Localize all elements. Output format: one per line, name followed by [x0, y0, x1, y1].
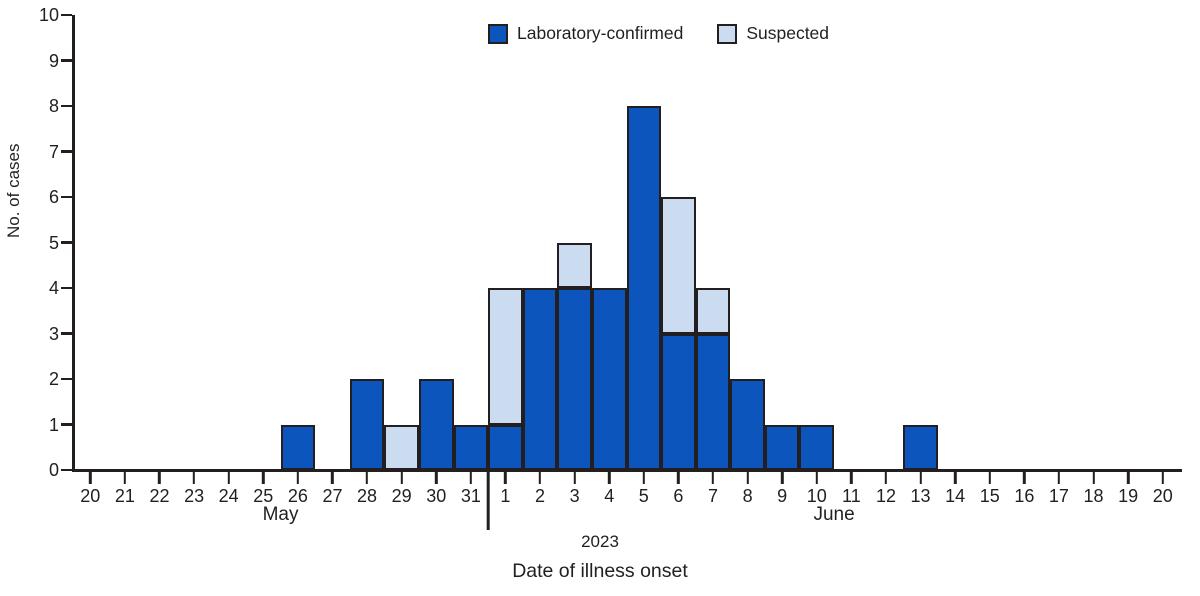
bar-segment-laboratory-confirmed [903, 425, 938, 471]
y-axis-tick-label: 5 [15, 234, 59, 252]
y-axis-tick [61, 196, 72, 198]
bar-segment-suspected [488, 288, 523, 425]
y-axis-tick [61, 287, 72, 289]
bar-stack [488, 288, 523, 470]
x-axis-tick [608, 472, 610, 484]
x-axis-tick [539, 472, 541, 484]
x-axis-tick [677, 472, 679, 484]
bar-stack [592, 288, 627, 470]
bar-segment-laboratory-confirmed [488, 425, 523, 471]
legend-swatch-suspected [717, 24, 737, 44]
legend-label-suspected: Suspected [746, 25, 829, 43]
y-axis-tick [61, 469, 72, 471]
x-axis-tick [158, 472, 160, 484]
x-axis-tick [850, 472, 852, 484]
bar-segment-laboratory-confirmed [523, 288, 558, 470]
y-axis-tick-labels: 012345678910 [15, 15, 59, 470]
x-axis-tick [919, 472, 921, 484]
bar-stack [765, 425, 800, 471]
y-axis-tick-label: 8 [15, 97, 59, 115]
y-axis-tick [61, 423, 72, 425]
epi-curve-figure: Laboratory-confirmed Suspected No. of ca… [0, 0, 1200, 596]
x-axis-tick [504, 472, 506, 484]
bar-segment-suspected [557, 243, 592, 289]
bar-stack [281, 425, 316, 471]
x-axis-tick [124, 472, 126, 484]
x-axis-tick [1162, 472, 1164, 484]
bar-segment-laboratory-confirmed [281, 425, 316, 471]
x-axis-tick [1092, 472, 1094, 484]
x-axis-tick [954, 472, 956, 484]
x-axis-tick [435, 472, 437, 484]
bar-series-container [73, 15, 1180, 470]
y-axis-tick-label: 6 [15, 188, 59, 206]
y-axis-tick [61, 105, 72, 107]
bar-segment-laboratory-confirmed [696, 334, 731, 471]
y-axis-tick-label: 1 [15, 416, 59, 434]
year-label: 2023 [0, 533, 1200, 550]
chart-legend: Laboratory-confirmed Suspected [488, 24, 829, 44]
x-axis-tick [366, 472, 368, 484]
x-axis-tick [193, 472, 195, 484]
x-axis-tick [227, 472, 229, 484]
x-axis-tick [816, 472, 818, 484]
y-axis-tick [61, 241, 72, 243]
x-axis-tick [1127, 472, 1129, 484]
legend-entry-laboratory-confirmed: Laboratory-confirmed [488, 24, 683, 44]
bar-stack [799, 425, 834, 471]
y-axis-tick-label: 7 [15, 143, 59, 161]
x-axis-tick [712, 472, 714, 484]
bar-segment-suspected [661, 197, 696, 334]
x-axis-tick [262, 472, 264, 484]
x-axis-tick-label: 20 [1143, 487, 1183, 505]
bar-segment-laboratory-confirmed [627, 106, 662, 470]
bar-stack [661, 197, 696, 470]
x-axis-tick [885, 472, 887, 484]
bar-segment-laboratory-confirmed [730, 379, 765, 470]
x-axis-tick [746, 472, 748, 484]
bar-segment-laboratory-confirmed [557, 288, 592, 470]
y-axis-tick-label: 9 [15, 52, 59, 70]
legend-entry-suspected: Suspected [717, 24, 829, 44]
y-axis-tick-label: 4 [15, 279, 59, 297]
y-axis-tick [61, 59, 72, 61]
bar-segment-laboratory-confirmed [419, 379, 454, 470]
bar-stack [627, 106, 662, 470]
bar-segment-laboratory-confirmed [350, 379, 385, 470]
y-axis-tick-label: 3 [15, 325, 59, 343]
bar-stack [557, 243, 592, 471]
y-axis-tick-label: 0 [15, 461, 59, 479]
x-axis-tick [989, 472, 991, 484]
bar-segment-laboratory-confirmed [765, 425, 800, 471]
y-axis-tick [61, 332, 72, 334]
bar-stack [696, 288, 731, 470]
x-axis-tick [331, 472, 333, 484]
month-label: June [774, 505, 894, 524]
bar-segment-laboratory-confirmed [592, 288, 627, 470]
x-axis-tick [1058, 472, 1060, 484]
bar-stack [523, 288, 558, 470]
x-axis-tick [470, 472, 472, 484]
bar-stack [903, 425, 938, 471]
bar-stack [350, 379, 385, 470]
y-axis-tick [61, 150, 72, 152]
bar-stack [419, 379, 454, 470]
x-axis-title: Date of illness onset [0, 562, 1200, 582]
x-axis-tick [573, 472, 575, 484]
bar-stack [730, 379, 765, 470]
y-axis-tick [61, 378, 72, 380]
bar-segment-laboratory-confirmed [661, 334, 696, 471]
legend-swatch-laboratory-confirmed [488, 24, 508, 44]
y-axis-tick-label: 2 [15, 370, 59, 388]
x-axis-ticks [73, 470, 1180, 484]
bar-stack [454, 425, 489, 471]
x-axis-tick [297, 472, 299, 484]
x-axis-tick [781, 472, 783, 484]
x-axis-tick [1023, 472, 1025, 484]
bar-segment-laboratory-confirmed [454, 425, 489, 471]
y-axis-tick [61, 14, 72, 16]
legend-label-laboratory-confirmed: Laboratory-confirmed [517, 25, 683, 43]
plot-area: 012345678910 202122232425262728293031123… [73, 15, 1180, 470]
x-axis-tick [400, 472, 402, 484]
x-axis-tick [643, 472, 645, 484]
bar-stack [384, 425, 419, 471]
bar-segment-laboratory-confirmed [799, 425, 834, 471]
month-label: May [221, 505, 341, 524]
bar-segment-suspected [696, 288, 731, 334]
bar-segment-suspected [384, 425, 419, 471]
y-axis-tick-label: 10 [15, 6, 59, 24]
month-divider-line [487, 440, 490, 530]
x-axis-tick [89, 472, 91, 484]
